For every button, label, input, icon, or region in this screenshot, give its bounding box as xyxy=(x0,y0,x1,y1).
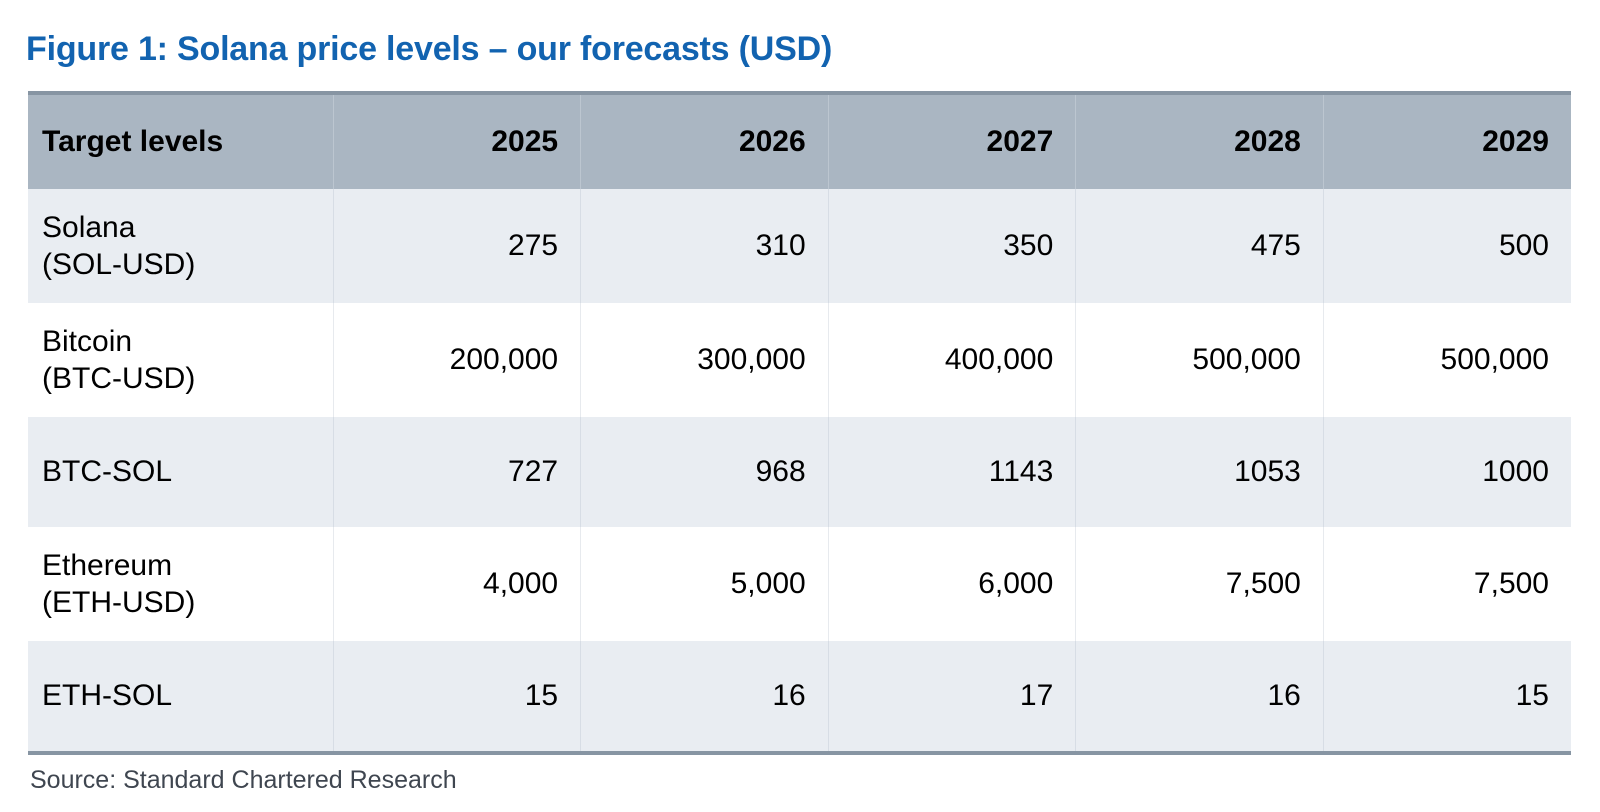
cell-ethereum-2028: 7,500 xyxy=(1076,527,1324,641)
column-header-2026: 2026 xyxy=(581,93,829,189)
cell-solana-2026: 310 xyxy=(581,189,829,303)
table-row: Ethereum (ETH-USD) 4,000 5,000 6,000 7,5… xyxy=(28,527,1571,641)
cell-solana-2027: 350 xyxy=(828,189,1076,303)
cell-btc-sol-2025: 727 xyxy=(333,417,581,527)
column-header-target-levels: Target levels xyxy=(28,93,333,189)
column-header-2029: 2029 xyxy=(1323,93,1571,189)
row-label-line-primary: ETH-SOL xyxy=(42,677,309,714)
cell-bitcoin-2029: 500,000 xyxy=(1323,303,1571,417)
cell-eth-sol-2026: 16 xyxy=(581,641,829,751)
column-header-2027: 2027 xyxy=(828,93,1076,189)
row-label-line-primary: Ethereum xyxy=(42,547,309,584)
table-row: BTC-SOL 727 968 1143 1053 1000 xyxy=(28,417,1571,527)
cell-bitcoin-2028: 500,000 xyxy=(1076,303,1324,417)
column-header-2025: 2025 xyxy=(333,93,581,189)
row-label-line-primary: Bitcoin xyxy=(42,323,309,360)
cell-eth-sol-2028: 16 xyxy=(1076,641,1324,751)
row-label-line-secondary: (BTC-USD) xyxy=(42,360,309,397)
column-header-2028: 2028 xyxy=(1076,93,1324,189)
cell-eth-sol-2029: 15 xyxy=(1323,641,1571,751)
source-note: Source: Standard Chartered Research xyxy=(30,766,457,795)
row-label-solana: Solana (SOL-USD) xyxy=(28,189,333,303)
forecast-table-wrapper: Target levels 2025 2026 2027 2028 2029 S… xyxy=(28,91,1571,751)
row-label-line-secondary: (ETH-USD) xyxy=(42,584,309,621)
cell-btc-sol-2027: 1143 xyxy=(828,417,1076,527)
cell-btc-sol-2028: 1053 xyxy=(1076,417,1324,527)
cell-bitcoin-2026: 300,000 xyxy=(581,303,829,417)
forecast-table: Target levels 2025 2026 2027 2028 2029 S… xyxy=(28,91,1571,751)
row-label-line-secondary: (SOL-USD) xyxy=(42,246,309,283)
cell-ethereum-2026: 5,000 xyxy=(581,527,829,641)
cell-btc-sol-2026: 968 xyxy=(581,417,829,527)
row-label-ethereum: Ethereum (ETH-USD) xyxy=(28,527,333,641)
figure-container: Figure 1: Solana price levels – our fore… xyxy=(0,0,1600,812)
table-row: ETH-SOL 15 16 17 16 15 xyxy=(28,641,1571,751)
table-header: Target levels 2025 2026 2027 2028 2029 xyxy=(28,93,1571,189)
cell-ethereum-2029: 7,500 xyxy=(1323,527,1571,641)
row-label-eth-sol: ETH-SOL xyxy=(28,641,333,751)
cell-ethereum-2027: 6,000 xyxy=(828,527,1076,641)
row-label-line-primary: Solana xyxy=(42,209,309,246)
table-row: Solana (SOL-USD) 275 310 350 475 500 xyxy=(28,189,1571,303)
cell-btc-sol-2029: 1000 xyxy=(1323,417,1571,527)
row-label-btc-sol: BTC-SOL xyxy=(28,417,333,527)
cell-solana-2029: 500 xyxy=(1323,189,1571,303)
cell-eth-sol-2027: 17 xyxy=(828,641,1076,751)
cell-eth-sol-2025: 15 xyxy=(333,641,581,751)
table-row: Bitcoin (BTC-USD) 200,000 300,000 400,00… xyxy=(28,303,1571,417)
table-bottom-rule xyxy=(28,751,1571,755)
cell-solana-2028: 475 xyxy=(1076,189,1324,303)
row-label-line-primary: BTC-SOL xyxy=(42,453,309,490)
cell-solana-2025: 275 xyxy=(333,189,581,303)
figure-title: Figure 1: Solana price levels – our fore… xyxy=(26,30,832,69)
cell-bitcoin-2027: 400,000 xyxy=(828,303,1076,417)
row-label-bitcoin: Bitcoin (BTC-USD) xyxy=(28,303,333,417)
header-row: Target levels 2025 2026 2027 2028 2029 xyxy=(28,93,1571,189)
cell-bitcoin-2025: 200,000 xyxy=(333,303,581,417)
table-body: Solana (SOL-USD) 275 310 350 475 500 Bit… xyxy=(28,189,1571,751)
cell-ethereum-2025: 4,000 xyxy=(333,527,581,641)
